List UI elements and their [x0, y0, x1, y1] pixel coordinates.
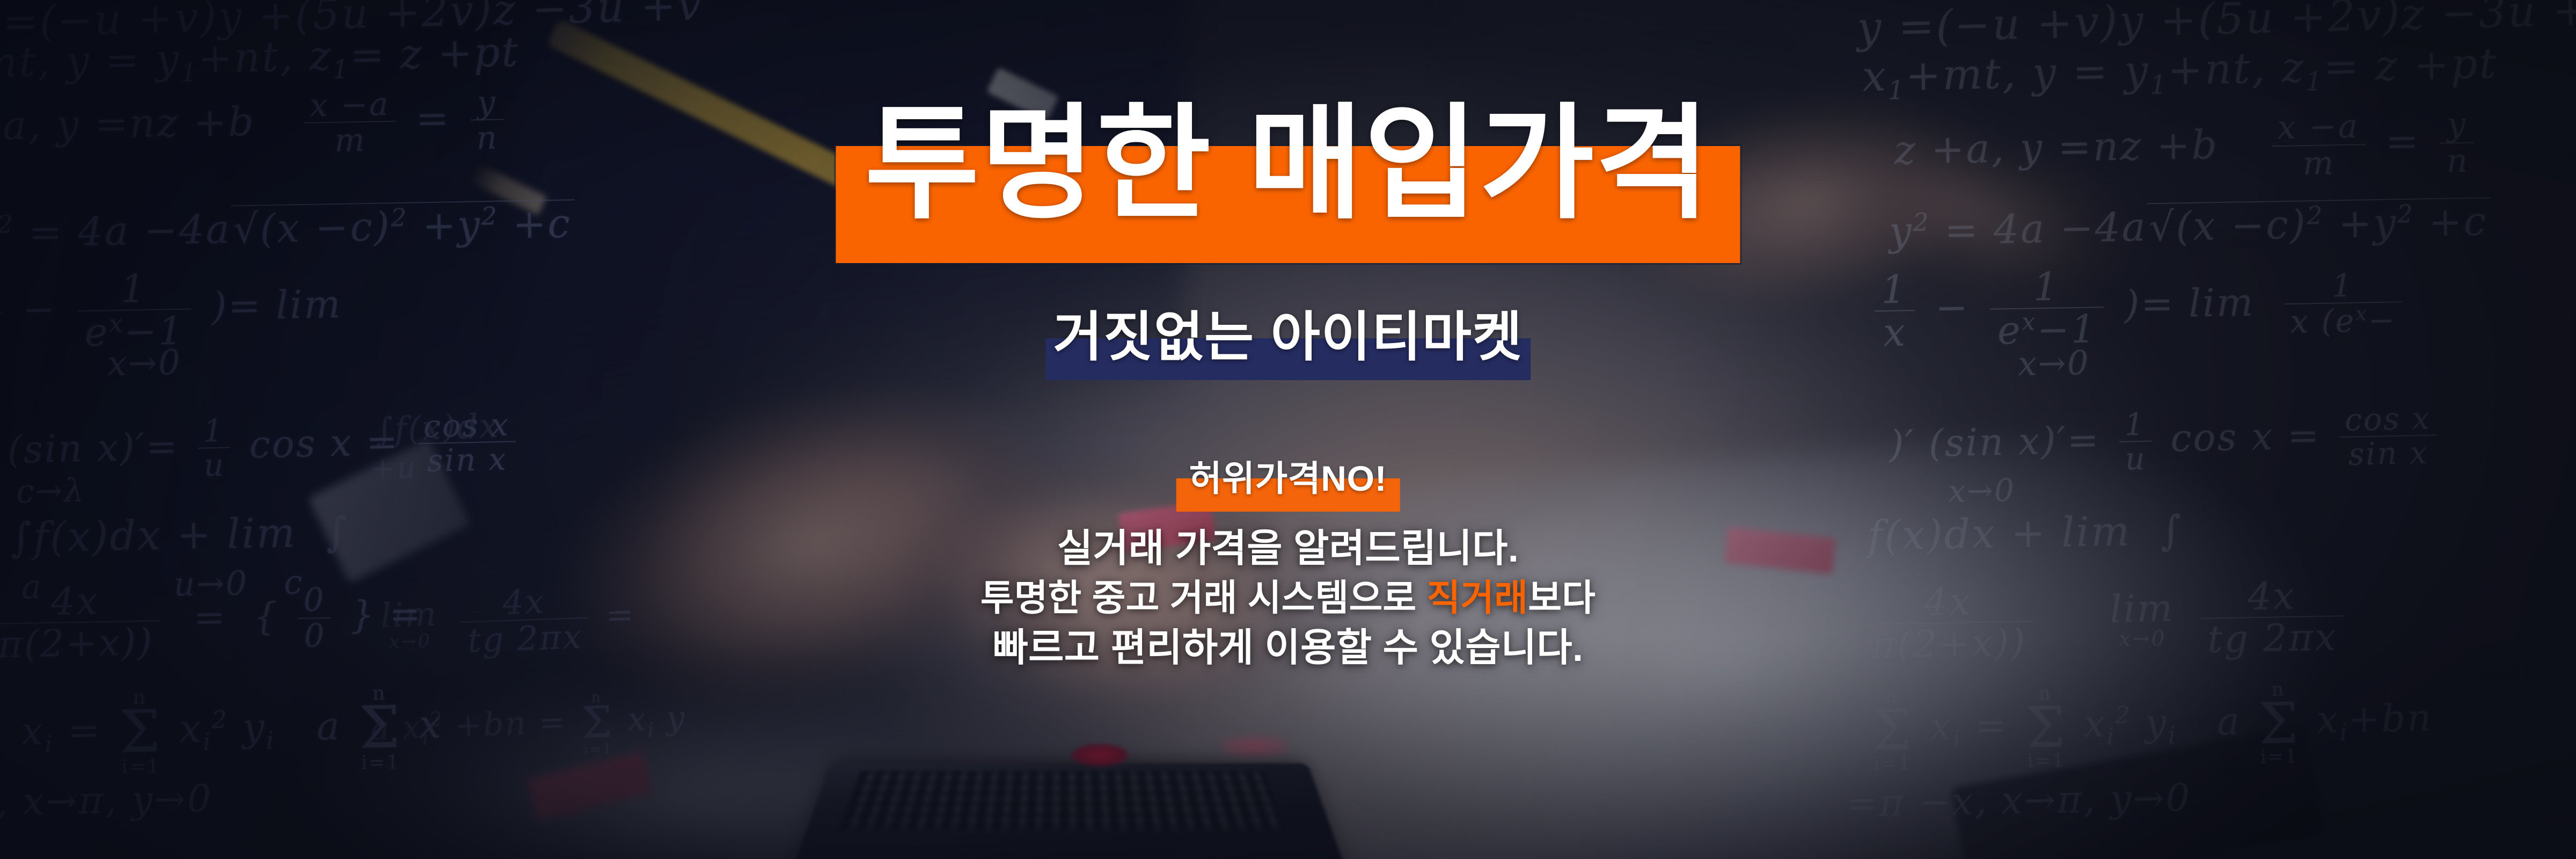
body-line-2-part-a: 투명한 중고 거래 시스템으로 [980, 578, 1427, 618]
headline-group: 투명한 매입가격 [840, 102, 1736, 227]
body-line-2-part-b: 보다 [1528, 578, 1596, 618]
headline-text: 투명한 매입가격 [840, 102, 1736, 227]
body-line-1: 실거래 가격을 알려드립니다. [0, 523, 2576, 574]
body-line-2: 투명한 중고 거래 시스템으로 직거래보다 [0, 574, 2576, 623]
body-line-2-highlight: 직거래 [1427, 578, 1528, 618]
banner-content: 투명한 매입가격 거짓없는 아이티마켓 허위가격NO! 실거래 가격을 알려드립… [0, 0, 2576, 859]
promo-banner: y =(−u +v)y +(5u +2v)z −3u +v mt, y = y1… [0, 0, 2576, 859]
kicker-text: 허위가격NO! [1181, 461, 1395, 496]
subheadline-group: 거짓없는 아이티마켓 [1038, 310, 1538, 364]
subheadline-text: 거짓없는 아이티마켓 [1038, 310, 1538, 364]
kicker-group: 허위가격NO! [1181, 461, 1395, 496]
body-line-3: 빠르고 편리하게 이용할 수 있습니다. [0, 623, 2576, 674]
body-copy: 실거래 가격을 알려드립니다. 투명한 중고 거래 시스템으로 직거래보다 빠르… [0, 523, 2576, 674]
